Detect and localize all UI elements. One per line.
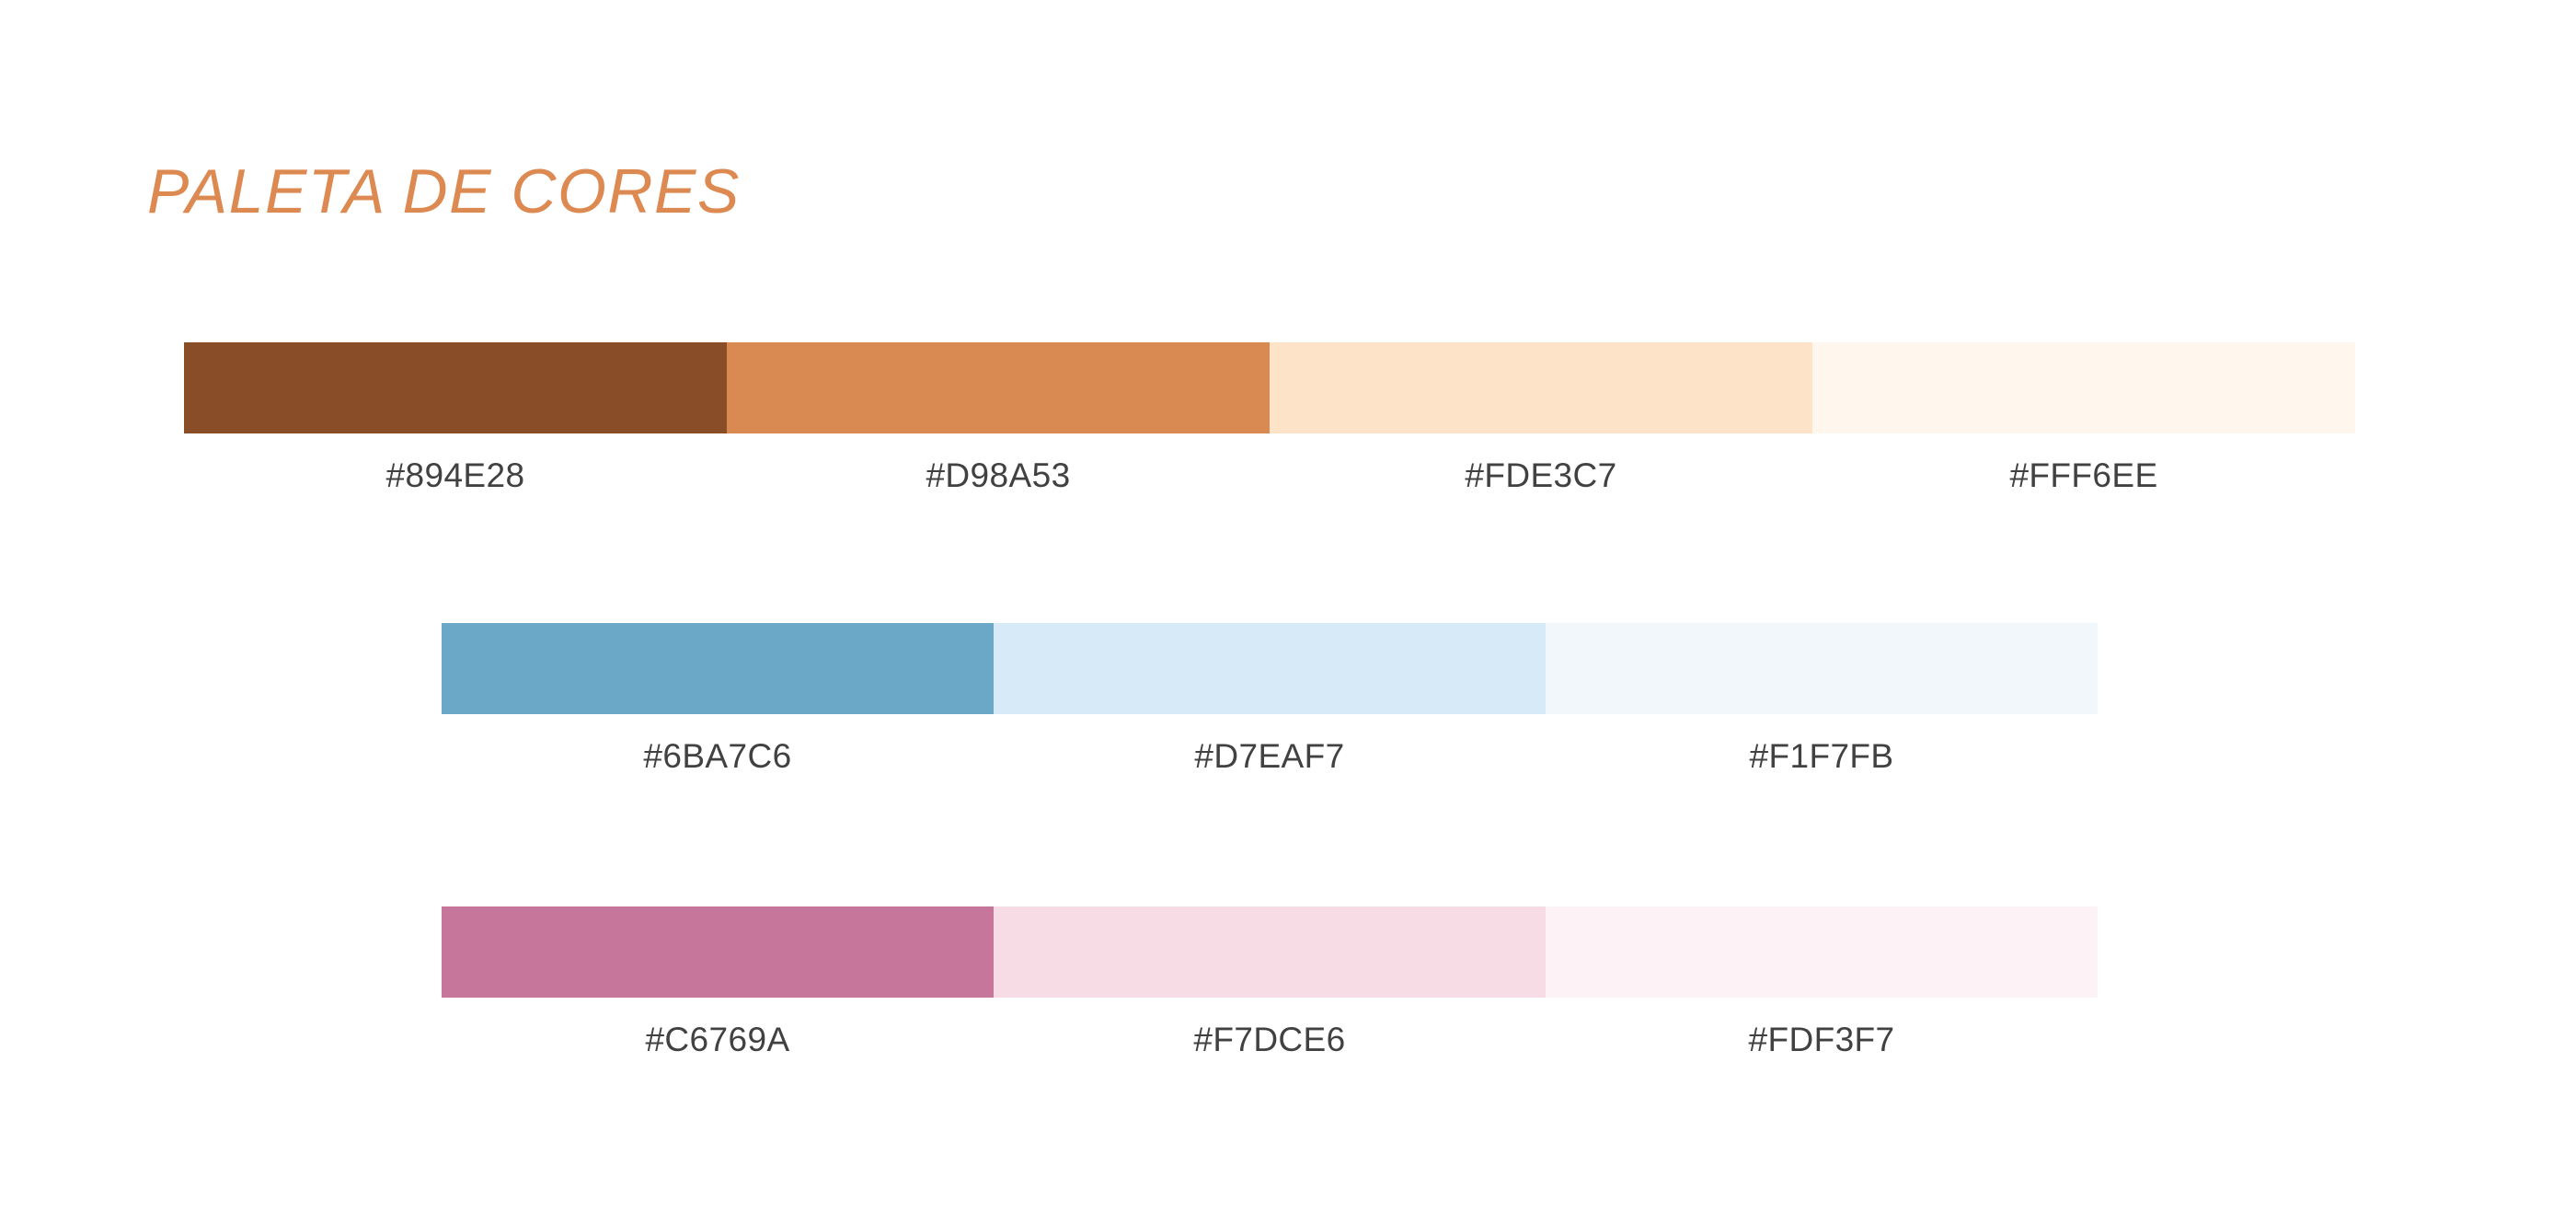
color-swatch[interactable] — [184, 342, 727, 433]
swatch-group[interactable]: #D7EAF7 — [994, 623, 1546, 777]
palette-row-primary: #894E28 #D98A53 #FDE3C7 #FFF6EE — [184, 342, 2355, 496]
color-hex-label: #D7EAF7 — [1194, 736, 1344, 777]
color-swatch[interactable] — [1812, 342, 2355, 433]
color-swatch[interactable] — [442, 623, 994, 714]
color-swatch[interactable] — [994, 906, 1546, 998]
palette-row-secondary: #6BA7C6 #D7EAF7 #F1F7FB — [442, 623, 2098, 777]
color-hex-label: #D98A53 — [926, 456, 1070, 496]
color-hex-label: #6BA7C6 — [643, 736, 791, 777]
color-hex-label: #894E28 — [386, 456, 525, 496]
color-hex-label: #FDE3C7 — [1465, 456, 1616, 496]
swatch-group[interactable]: #D98A53 — [727, 342, 1270, 496]
page-title: PALETA DE CORES — [147, 153, 741, 230]
swatch-group[interactable]: #894E28 — [184, 342, 727, 496]
color-swatch[interactable] — [727, 342, 1270, 433]
color-swatch[interactable] — [1270, 342, 1812, 433]
swatch-group[interactable]: #F1F7FB — [1546, 623, 2098, 777]
color-hex-label: #FFF6EE — [2009, 456, 2157, 496]
color-hex-label: #F7DCE6 — [1193, 1020, 1345, 1060]
swatch-group[interactable]: #F7DCE6 — [994, 906, 1546, 1060]
swatch-group[interactable]: #C6769A — [442, 906, 994, 1060]
color-hex-label: #C6769A — [645, 1020, 789, 1060]
swatch-group[interactable]: #FDE3C7 — [1270, 342, 1812, 496]
color-swatch[interactable] — [1546, 906, 2098, 998]
color-hex-label: #FDF3F7 — [1748, 1020, 1894, 1060]
color-hex-label: #F1F7FB — [1749, 736, 1893, 777]
color-swatch[interactable] — [1546, 623, 2098, 714]
swatch-group[interactable]: #FFF6EE — [1812, 342, 2355, 496]
color-swatch[interactable] — [994, 623, 1546, 714]
swatch-group[interactable]: #6BA7C6 — [442, 623, 994, 777]
color-palette-page: PALETA DE CORES #894E28 #D98A53 #FDE3C7 … — [0, 0, 2576, 1224]
palette-row-tertiary: #C6769A #F7DCE6 #FDF3F7 — [442, 906, 2098, 1060]
swatch-group[interactable]: #FDF3F7 — [1546, 906, 2098, 1060]
color-swatch[interactable] — [442, 906, 994, 998]
